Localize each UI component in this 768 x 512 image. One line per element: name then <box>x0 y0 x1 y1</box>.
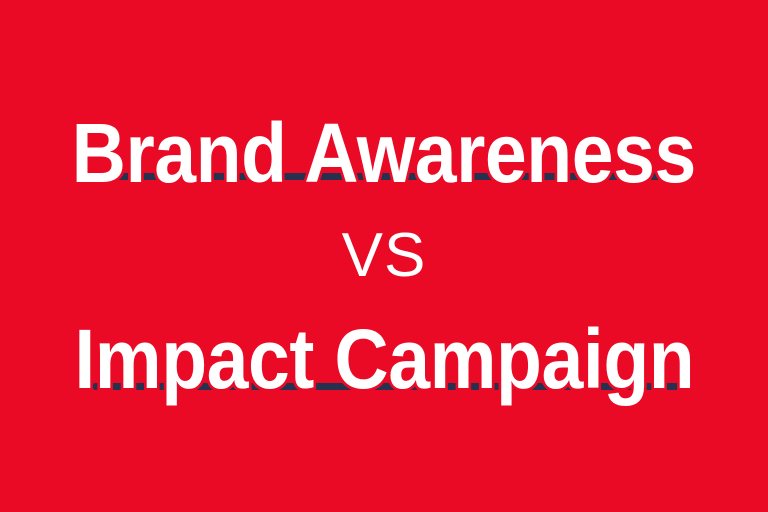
poster-canvas: Brand Awareness VS Impact Campaign <box>0 0 768 512</box>
headline-secondary: Impact Campaign <box>74 318 694 400</box>
versus-row: VS <box>0 201 768 311</box>
headline-row-primary: Brand Awareness <box>0 105 768 201</box>
headline-primary: Brand Awareness <box>72 112 696 194</box>
headline-row-secondary: Impact Campaign <box>0 311 768 407</box>
versus-label: VS <box>342 225 427 287</box>
